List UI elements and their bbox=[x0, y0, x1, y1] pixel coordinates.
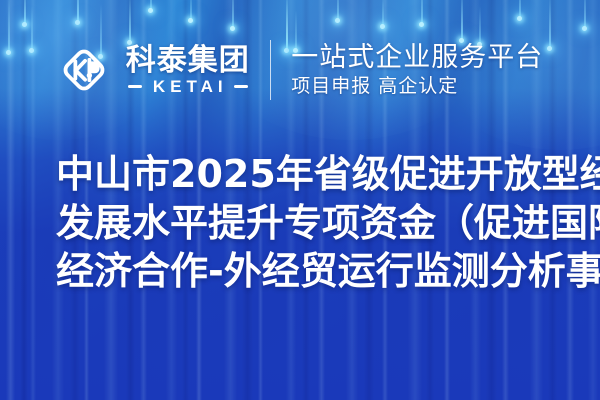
title-line-2: 发展水平提升专项资金（促进国际 bbox=[56, 199, 600, 248]
title-line-3: 经济合作-外经贸运行监测分析事 bbox=[56, 247, 600, 296]
brand-name-en-row: KETAI bbox=[126, 78, 250, 95]
wordmark-rule-right bbox=[234, 85, 248, 88]
ketai-diamond-monogram-icon bbox=[57, 43, 111, 97]
promo-banner: 科泰集团 KETAI 一站式企业服务平台 项目申报 高企认定 中山市2025年省… bbox=[0, 0, 600, 400]
brand-name-en: KETAI bbox=[148, 78, 228, 95]
tagline-main: 一站式企业服务平台 bbox=[291, 43, 543, 72]
page-title: 中山市2025年省级促进开放型经济 发展水平提升专项资金（促进国际 经济合作-外… bbox=[56, 150, 600, 296]
brand-wordmark: 科泰集团 KETAI bbox=[126, 46, 250, 95]
vertical-divider-icon bbox=[270, 40, 272, 100]
brand-name-cn: 科泰集团 bbox=[126, 46, 250, 76]
title-line-1: 中山市2025年省级促进开放型经济 bbox=[56, 150, 600, 199]
tagline-block: 一站式企业服务平台 项目申报 高企认定 bbox=[291, 43, 543, 97]
tagline-sub: 项目申报 高企认定 bbox=[291, 76, 543, 97]
brand-lockup: 科泰集团 KETAI bbox=[57, 43, 250, 97]
wordmark-rule-left bbox=[128, 85, 142, 88]
banner-header: 科泰集团 KETAI 一站式企业服务平台 项目申报 高企认定 bbox=[0, 0, 600, 140]
